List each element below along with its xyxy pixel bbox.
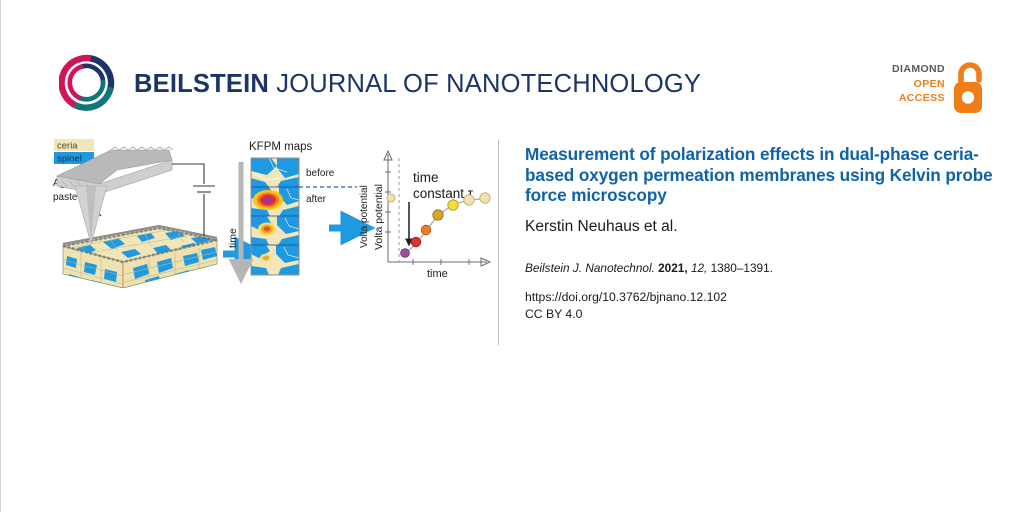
oa-label-open: OPEN (877, 77, 945, 92)
svg-text:×: × (265, 164, 269, 171)
article-citation: Beilstein J. Nanotechnol. 2021, 12, 1380… (525, 260, 995, 276)
journal-cover-page: BEILSTEIN JOURNAL OF NANOTECHNOLOGY DIAM… (0, 0, 1024, 512)
kfpm-hotspot-medium (258, 223, 276, 236)
citation-journal: Beilstein J. Nanotechnol. (525, 261, 655, 275)
journal-masthead: BEILSTEIN JOURNAL OF NANOTECHNOLOGY DIAM… (1, 0, 1024, 132)
panel-relaxation-plot: Volta potential time time constant τ (373, 151, 490, 280)
legend-label-ceria: ceria (57, 141, 78, 152)
legend-label-spinel: spinel (57, 154, 82, 165)
data-point-3 (421, 225, 431, 235)
content-divider (498, 140, 499, 345)
open-padlock-icon (951, 61, 991, 115)
article-info-block: Measurement of polarization effects in d… (525, 144, 995, 323)
open-access-text-block: DIAMOND OPEN ACCESS (877, 62, 945, 106)
oa-label-diamond: DIAMOND (877, 62, 945, 77)
citation-pages: 1380–1391. (711, 261, 773, 275)
data-point-baseline (387, 194, 395, 202)
plot-annotation-line1: time (413, 170, 439, 185)
voltage-source-icon (172, 164, 215, 236)
article-authors: Kerstin Neuhaus et al. (525, 217, 995, 236)
panel-afm-schematic: ceria spinel Ag paste (53, 139, 217, 288)
data-point-1 (401, 249, 410, 258)
data-point-5 (448, 200, 458, 210)
panel-kfpm-maps: KFPM maps × (227, 141, 357, 275)
article-license: CC BY 4.0 (525, 306, 995, 323)
journal-wordmark: BEILSTEIN JOURNAL OF NANOTECHNOLOGY (134, 70, 701, 99)
data-point-7 (480, 193, 490, 203)
graphical-abstract: ceria spinel Ag paste (41, 136, 493, 288)
article-doi-link[interactable]: https://doi.org/10.3762/bjnano.12.102 (525, 289, 995, 306)
data-point-4 (433, 210, 443, 220)
data-point-6 (464, 195, 474, 205)
kfpm-label-before: before (306, 168, 335, 179)
kfpm-label-after: after (306, 194, 327, 205)
kfpm-time-axis-label: time (227, 228, 239, 248)
citation-volume: 12, (691, 261, 707, 275)
plot-xlabel: time (427, 268, 448, 280)
label-paste: paste (53, 192, 78, 203)
wordmark-subtitle: JOURNAL OF NANOTECHNOLOGY (269, 70, 701, 98)
oa-label-access: ACCESS (877, 91, 945, 106)
kfpm-hotspot-strong (253, 190, 283, 210)
article-title: Measurement of polarization effects in d… (525, 144, 995, 206)
phase-legend: ceria spinel (54, 139, 94, 165)
kfpm-hotspot-weak (260, 254, 272, 263)
beilstein-swirl-logo-icon (59, 54, 117, 112)
diamond-open-access-badge: DIAMOND OPEN ACCESS (877, 62, 989, 118)
plot-ylabel: Volta potential (373, 184, 385, 250)
citation-year: 2021, (658, 261, 688, 275)
data-point-2 (411, 237, 421, 247)
kfpm-maps-title: KFPM maps (249, 141, 313, 153)
wordmark-beilstein: BEILSTEIN (134, 70, 269, 98)
kfpm-volta-potential-label: Volta potential (359, 185, 370, 248)
